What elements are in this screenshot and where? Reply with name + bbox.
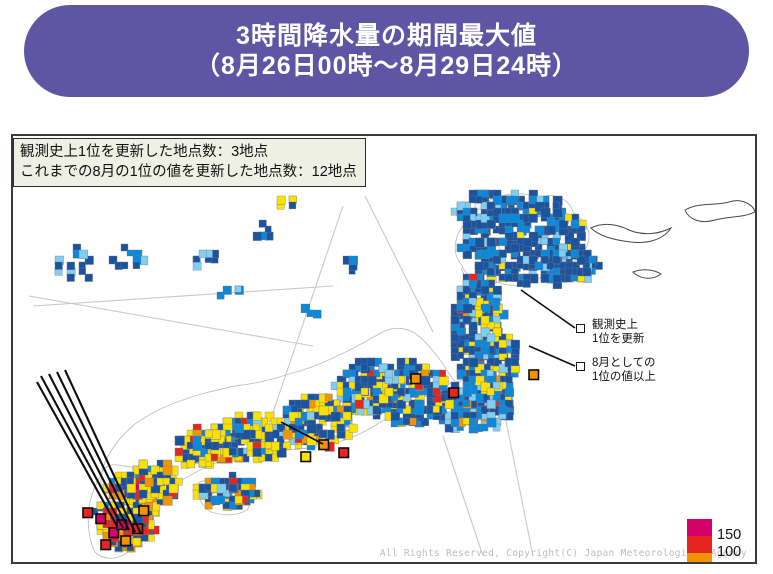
callout-all-time-record: 観測史上 1位を更新 8月としての 1位の値以上 bbox=[13, 136, 755, 562]
legend-swatch-100 bbox=[687, 536, 712, 553]
legend-swatch-150 bbox=[687, 519, 712, 536]
callout-all-time-label-1: 観測史上 bbox=[592, 318, 638, 332]
legend-swatch-60 bbox=[687, 553, 712, 564]
title-banner: 3時間降水量の期間最大値 （8月26日00時〜8月29日24時） bbox=[24, 5, 749, 97]
precipitation-map: 観測史上1位を更新した地点数：3地点 これまでの8月の1位の値を更新した地点数：… bbox=[11, 134, 757, 564]
callout-all-time-label-2: 1位を更新 bbox=[592, 332, 644, 346]
august-record-marker-icon bbox=[576, 362, 585, 371]
legend-tick-100: 100 bbox=[717, 545, 741, 560]
legend-colorbar bbox=[687, 519, 712, 564]
title-line-2: （8月26日00時〜8月29日24時） bbox=[195, 51, 578, 81]
callout-august-label-1: 8月としての bbox=[592, 356, 656, 370]
callout-august-label-2: 1位の値以上 bbox=[592, 370, 656, 384]
title-line-1: 3時間降水量の期間最大値 bbox=[236, 21, 537, 51]
screenshot-root: 3時間降水量の期間最大値 （8月26日00時〜8月29日24時） 観測史上1位を… bbox=[0, 0, 773, 574]
legend-tick-60: 60 bbox=[717, 562, 733, 564]
all-time-record-marker-icon bbox=[576, 324, 585, 333]
legend-tick-150: 150 bbox=[717, 528, 741, 543]
